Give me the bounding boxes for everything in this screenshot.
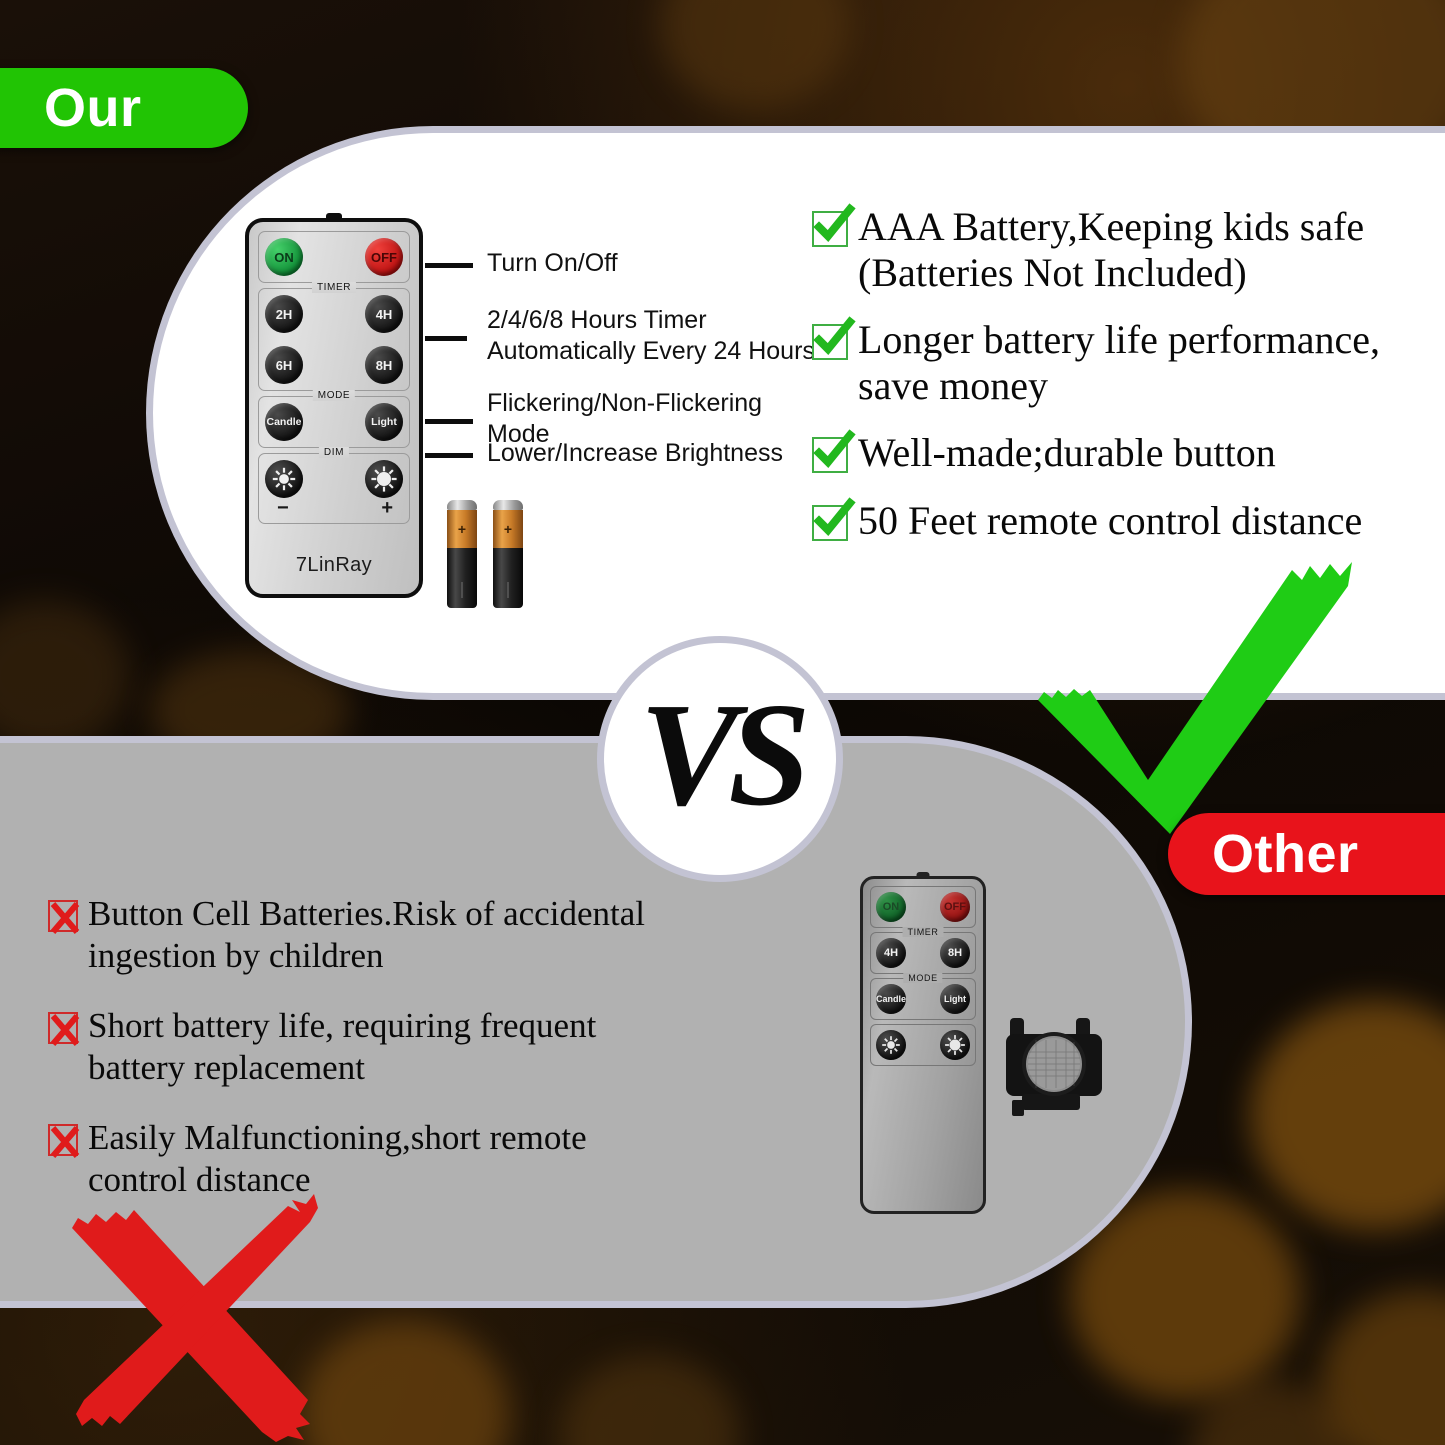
off-button[interactable]: OFF	[940, 892, 970, 922]
vs-badge: VS	[597, 636, 843, 882]
cross-box-icon	[48, 1012, 78, 1044]
timer-group-label: TIMER	[312, 282, 356, 293]
cross-box-icon	[48, 1124, 78, 1156]
dim-minus-sign: −	[277, 499, 289, 517]
remote-ir-nub	[917, 872, 930, 878]
power-button-group: ON OFF	[258, 231, 410, 283]
dim-group-label: DIM	[319, 447, 349, 458]
comparison-infographic: ON OFF TIMER 2H 4H 6H 8H MODE Candle Lig…	[0, 0, 1445, 1445]
aaa-battery: +	[493, 500, 523, 608]
list-item: Well-made;durable button	[812, 430, 1437, 476]
callout-text: 2/4/6/8 Hours Timer Automatically Every …	[487, 305, 845, 367]
battery-positive-label: +	[447, 510, 477, 548]
check-box-icon	[812, 324, 848, 360]
other-badge: Other	[1168, 813, 1445, 895]
callout-text: Lower/Increase Brightness	[487, 438, 825, 469]
mode-group-label: MODE	[903, 973, 942, 983]
timer-8h-button[interactable]: 8H	[365, 346, 403, 384]
check-box-icon	[812, 437, 848, 473]
mode-button-group: MODE Candle Light	[870, 978, 976, 1020]
feature-text: Well-made;durable button	[858, 430, 1276, 476]
sun-large-icon	[944, 1034, 966, 1056]
callout-line	[425, 419, 473, 424]
feature-text: 50 Feet remote control distance	[858, 498, 1362, 544]
list-item: Longer battery life performance, save mo…	[812, 317, 1437, 408]
big-green-check-icon	[1030, 552, 1360, 842]
sun-large-icon	[370, 465, 398, 493]
timer-4h-button[interactable]: 4H	[876, 938, 906, 968]
cross-box-icon	[48, 900, 78, 932]
timer-button-group: TIMER 4H 8H	[870, 932, 976, 974]
dim-up-button[interactable]	[365, 460, 403, 498]
battery-terminal	[493, 500, 523, 510]
our-badge: Our	[0, 68, 248, 148]
light-mode-button[interactable]: Light	[940, 984, 970, 1014]
other-remote-control[interactable]: ON OFF TIMER 4H 8H MODE Candle Light	[860, 876, 986, 1214]
battery-body	[493, 548, 523, 608]
timer-6h-button[interactable]: 6H	[265, 346, 303, 384]
our-feature-list: AAA Battery,Keeping kids safe (Batteries…	[812, 204, 1437, 566]
feature-text: AAA Battery,Keeping kids safe (Batteries…	[858, 204, 1364, 295]
remote-ir-nub	[326, 213, 342, 220]
candle-mode-button[interactable]: Candle	[876, 984, 906, 1014]
callout-line	[425, 453, 473, 458]
our-badge-label: Our	[44, 77, 142, 139]
timer-button-group: TIMER 2H 4H 6H 8H	[258, 288, 410, 391]
dim-button-group	[870, 1024, 976, 1066]
check-box-icon	[812, 505, 848, 541]
aaa-battery: +	[447, 500, 477, 608]
battery-positive-label: +	[493, 510, 523, 548]
power-button-group: ON OFF	[870, 886, 976, 928]
vs-label: VS	[639, 681, 800, 829]
list-item: 50 Feet remote control distance	[812, 498, 1437, 544]
light-mode-button[interactable]: Light	[365, 403, 403, 441]
dim-down-button[interactable]	[876, 1030, 906, 1060]
timer-2h-button[interactable]: 2H	[265, 295, 303, 333]
button-cell-battery-holder	[1002, 1008, 1110, 1120]
callout-text: Turn On/Off	[487, 248, 805, 279]
callout-timer: 2/4/6/8 Hours Timer Automatically Every …	[425, 305, 845, 367]
dim-up-button[interactable]	[940, 1030, 970, 1060]
sun-small-icon	[880, 1034, 902, 1056]
candle-mode-button[interactable]: Candle	[265, 403, 303, 441]
our-remote-control[interactable]: ON OFF TIMER 2H 4H 6H 8H MODE Candle Lig…	[245, 218, 423, 598]
mode-button-group: MODE Candle Light	[258, 396, 410, 448]
callout-brightness: Lower/Increase Brightness	[425, 438, 825, 469]
remote-brand-label: 7LinRay	[249, 554, 419, 577]
battery-body	[447, 548, 477, 608]
dim-button-group: DIM	[258, 453, 410, 524]
check-box-icon	[812, 211, 848, 247]
off-button[interactable]: OFF	[365, 238, 403, 276]
sun-small-icon	[270, 465, 298, 493]
callout-line	[425, 336, 467, 341]
other-drawback-list: Button Cell Batteries.Risk of accidental…	[48, 893, 758, 1229]
list-item: Short battery life, requiring frequent b…	[48, 1005, 758, 1089]
dim-down-button[interactable]	[265, 460, 303, 498]
battery-terminal	[447, 500, 477, 510]
other-badge-label: Other	[1212, 823, 1359, 885]
big-red-cross-icon	[60, 1188, 330, 1443]
list-item: Button Cell Batteries.Risk of accidental…	[48, 893, 758, 977]
timer-8h-button[interactable]: 8H	[940, 938, 970, 968]
callout-power: Turn On/Off	[425, 248, 805, 279]
on-button[interactable]: ON	[876, 892, 906, 922]
drawback-text: Short battery life, requiring frequent b…	[88, 1005, 596, 1089]
on-button[interactable]: ON	[265, 238, 303, 276]
list-item: AAA Battery,Keeping kids safe (Batteries…	[812, 204, 1437, 295]
timer-4h-button[interactable]: 4H	[365, 295, 403, 333]
timer-group-label: TIMER	[903, 927, 944, 937]
callout-line	[425, 263, 473, 268]
feature-text: Longer battery life performance, save mo…	[858, 317, 1380, 408]
aaa-battery-pair: + +	[447, 500, 523, 608]
drawback-text: Button Cell Batteries.Risk of accidental…	[88, 893, 645, 977]
mode-group-label: MODE	[313, 390, 355, 401]
dim-plus-sign: +	[381, 499, 393, 517]
